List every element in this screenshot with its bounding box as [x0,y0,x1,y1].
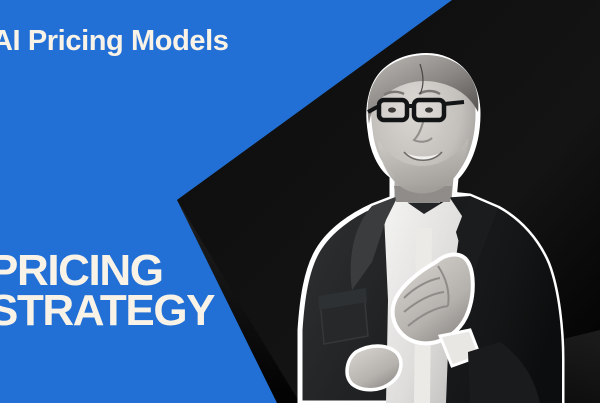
page-title: PRICING STRATEGY [0,251,214,330]
eye-left [388,107,396,112]
portrait-figure [0,0,600,403]
hand-lower [347,346,401,390]
title-line-1: PRICING [0,251,214,291]
headline-text: AI Pricing Models [0,27,229,56]
eye-right [425,107,433,112]
title-line-2: STRATEGY [0,291,214,331]
thumbnail-canvas: AI Pricing Models PRICING STRATEGY [0,0,600,403]
